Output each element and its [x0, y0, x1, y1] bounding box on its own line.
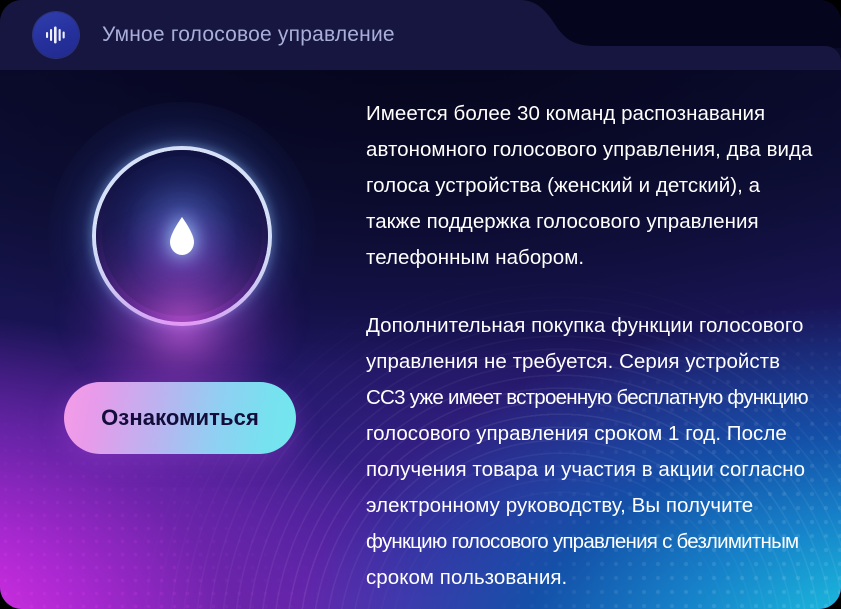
voice-waveform-icon: [33, 12, 79, 58]
page-title: Умное голосовое управление: [102, 23, 395, 47]
location-pin-icon: [167, 216, 197, 256]
paragraph-2-seg-3: сроком пользования.: [366, 566, 567, 589]
paragraph-2-seg-tight-1: CC3 уже имеет встроенную бесплатную функ…: [366, 380, 808, 416]
paragraph-2: Дополнительная покупка функции голосовог…: [366, 308, 818, 596]
voice-control-promo-card: Умное голосовое управление Ознакомиться …: [0, 0, 841, 609]
paragraph-2-seg-1: Дополнительная покупка функции голосовог…: [366, 314, 803, 373]
paragraph-2-seg-2: голосового управления сроком 1 год. Посл…: [366, 422, 805, 517]
voice-assistant-orb: [96, 150, 268, 322]
description-text: Имеется более 30 команд распознавания ав…: [366, 96, 818, 596]
paragraph-2-seg-tight-2: функцию голосового управления с безлимит…: [366, 524, 798, 560]
header: Умное голосовое управление: [0, 0, 841, 70]
learn-more-button[interactable]: Ознакомиться: [64, 382, 296, 454]
paragraph-1: Имеется более 30 команд распознавания ав…: [366, 96, 818, 276]
